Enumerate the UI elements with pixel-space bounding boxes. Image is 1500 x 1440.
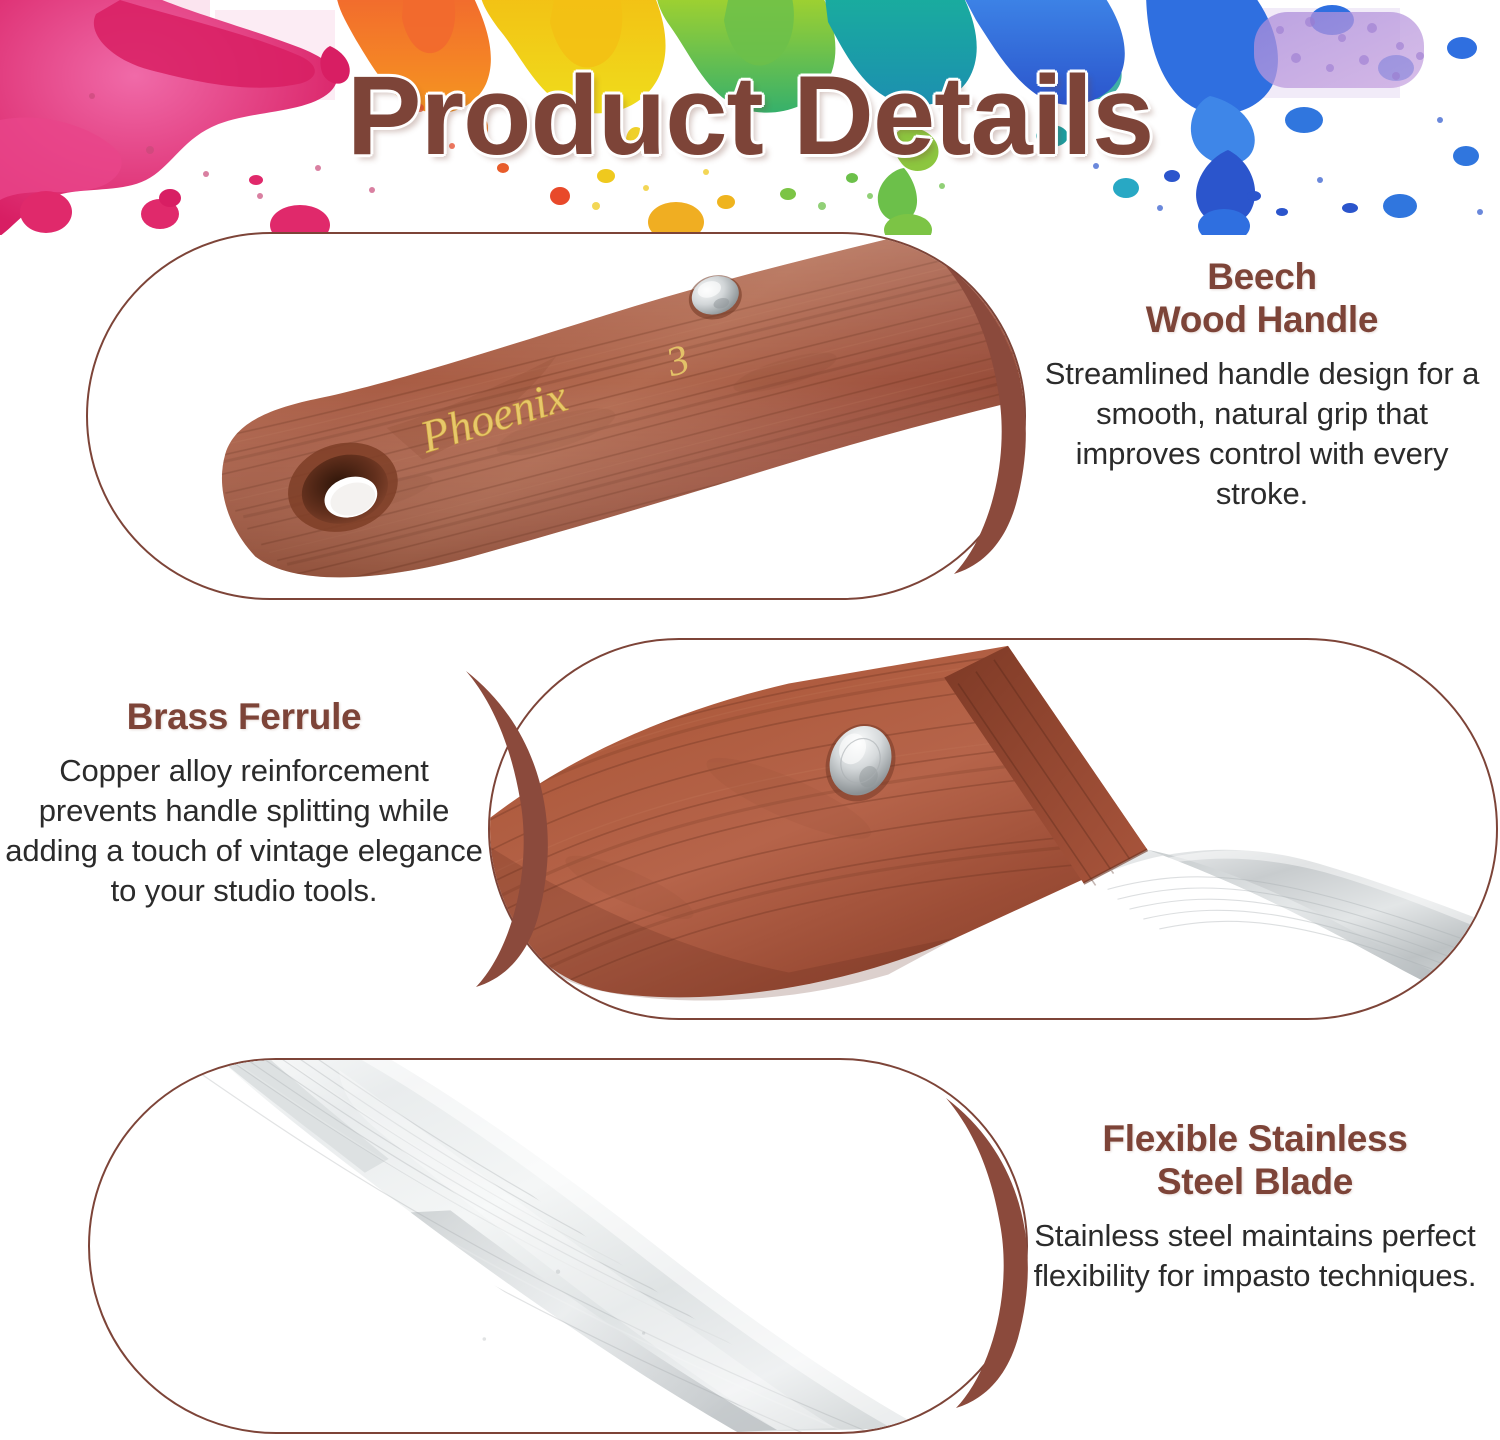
product-details-infographic: Product Details xyxy=(0,0,1500,1440)
product-photo-frame-handle: Phoenix 3 xyxy=(86,232,1026,600)
feature-text-beech-wood-handle: Beech Wood Handle Streamlined handle des… xyxy=(1036,256,1488,514)
feature-text-flexible-stainless-steel-blade: Flexible Stainless Steel Blade Stainless… xyxy=(1018,1118,1492,1296)
product-photo-ferrule-and-blade xyxy=(490,640,1496,1018)
feature-heading: Brass Ferrule xyxy=(4,696,484,739)
page-title: Product Details xyxy=(0,60,1500,172)
feature-description: Stainless steel maintains perfect flexib… xyxy=(1018,1216,1492,1296)
feature-heading: Flexible Stainless Steel Blade xyxy=(1018,1118,1492,1204)
product-photo-steel-blade xyxy=(90,1060,1026,1432)
feature-heading: Beech Wood Handle xyxy=(1036,256,1488,342)
feature-description: Streamlined handle design for a smooth, … xyxy=(1036,354,1488,514)
feature-description: Copper alloy reinforcement prevents hand… xyxy=(4,751,484,911)
product-photo-frame-ferrule xyxy=(488,638,1498,1020)
product-photo-wood-handle: Phoenix 3 xyxy=(88,234,1024,598)
feature-text-brass-ferrule: Brass Ferrule Copper alloy reinforcement… xyxy=(4,696,484,911)
product-photo-frame-blade xyxy=(88,1058,1028,1434)
